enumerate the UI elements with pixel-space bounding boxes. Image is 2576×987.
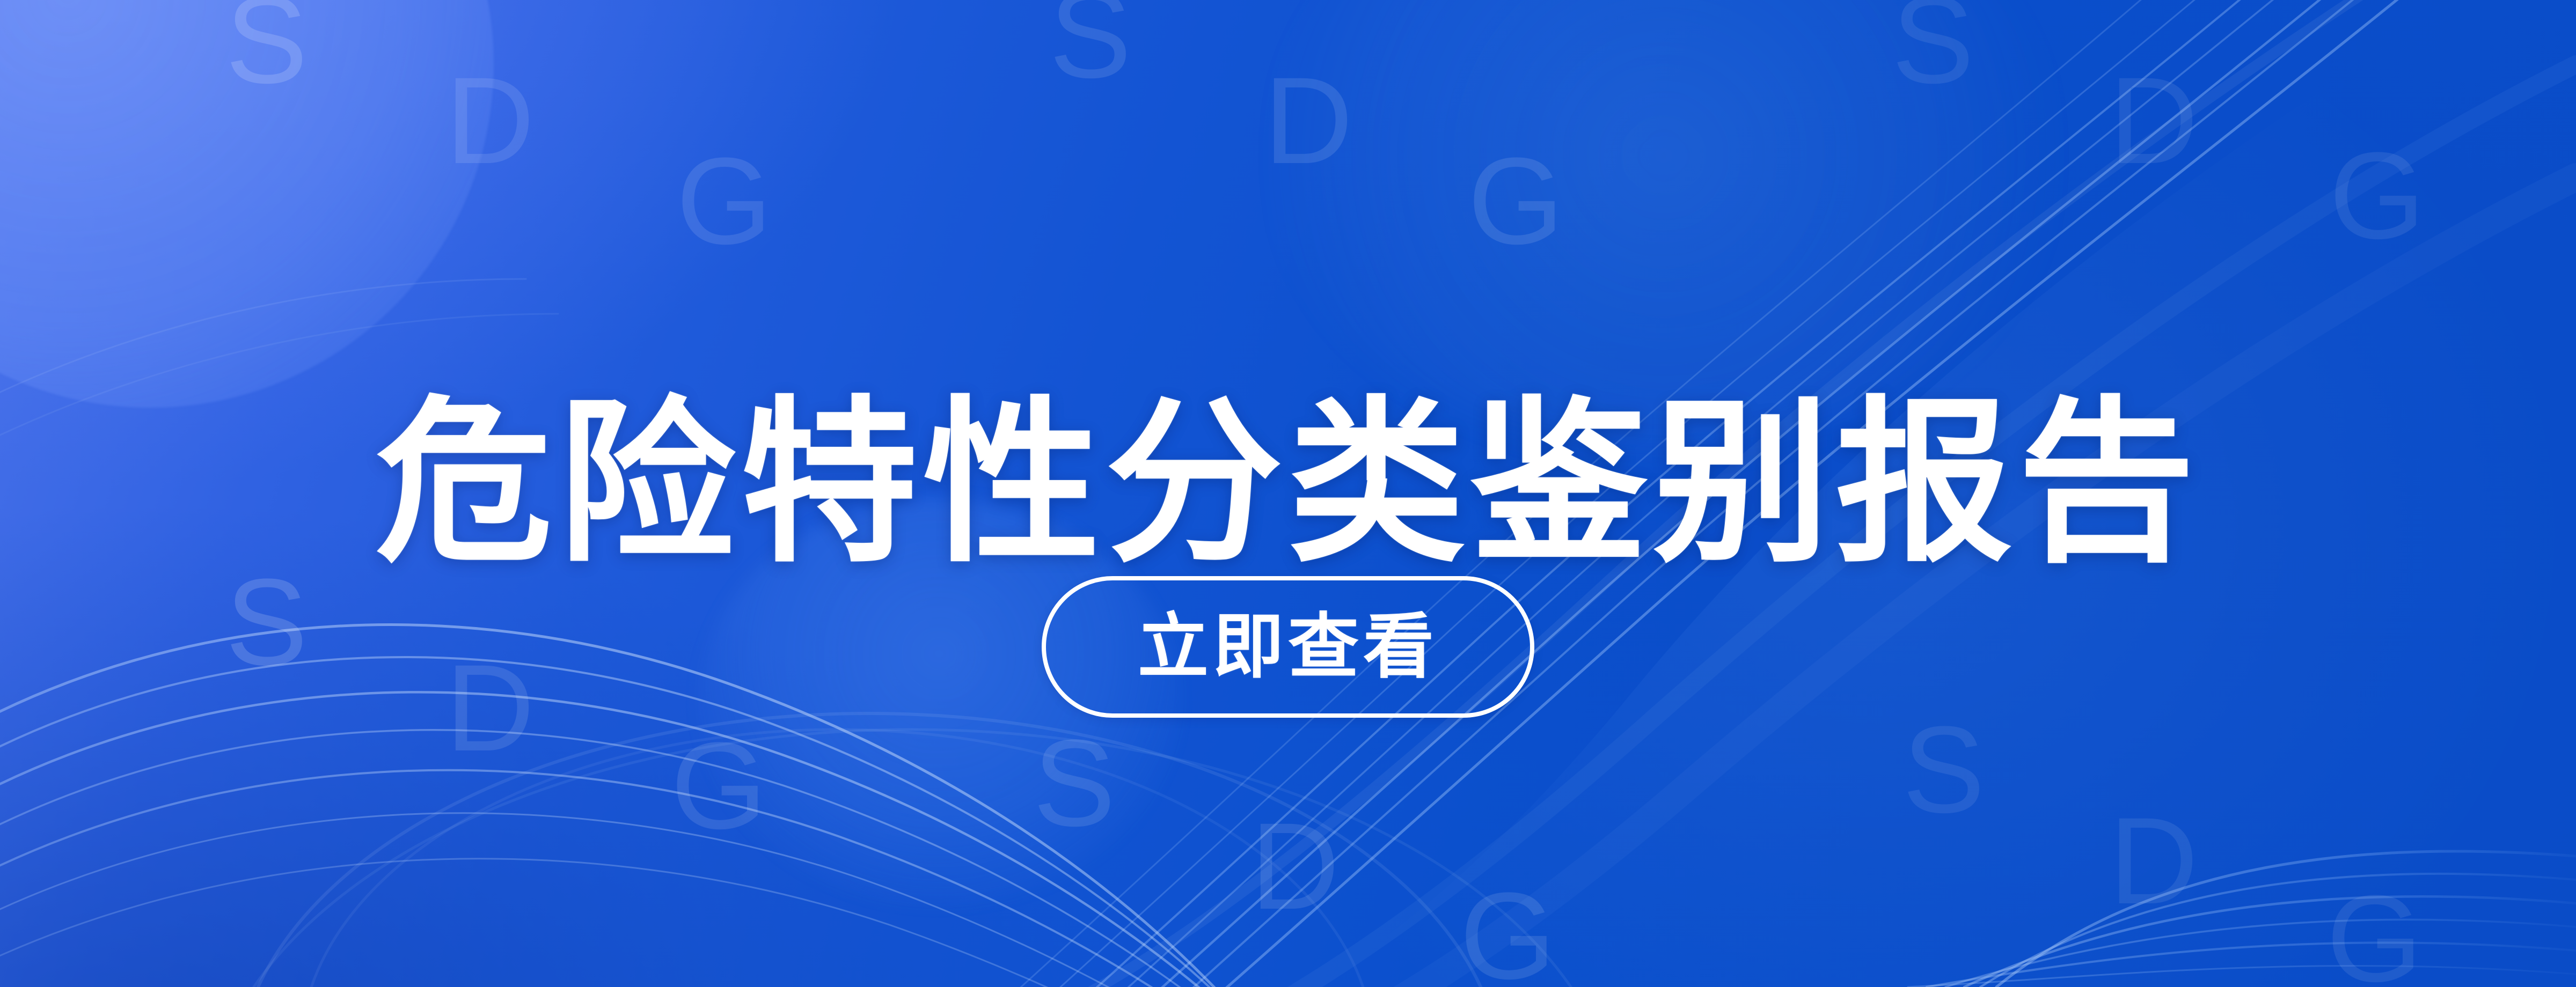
- cta-container: 立即查看: [0, 576, 2576, 718]
- view-now-button[interactable]: 立即查看: [1042, 576, 1534, 718]
- page-title: 危险特性分类鉴别报告: [0, 385, 2576, 583]
- promo-banner: SDGSDGSDGSDGSDGSDG 危险特性分类鉴别报告 立即查看: [0, 0, 2576, 987]
- banner-content: 危险特性分类鉴别报告 立即查看: [0, 0, 2576, 987]
